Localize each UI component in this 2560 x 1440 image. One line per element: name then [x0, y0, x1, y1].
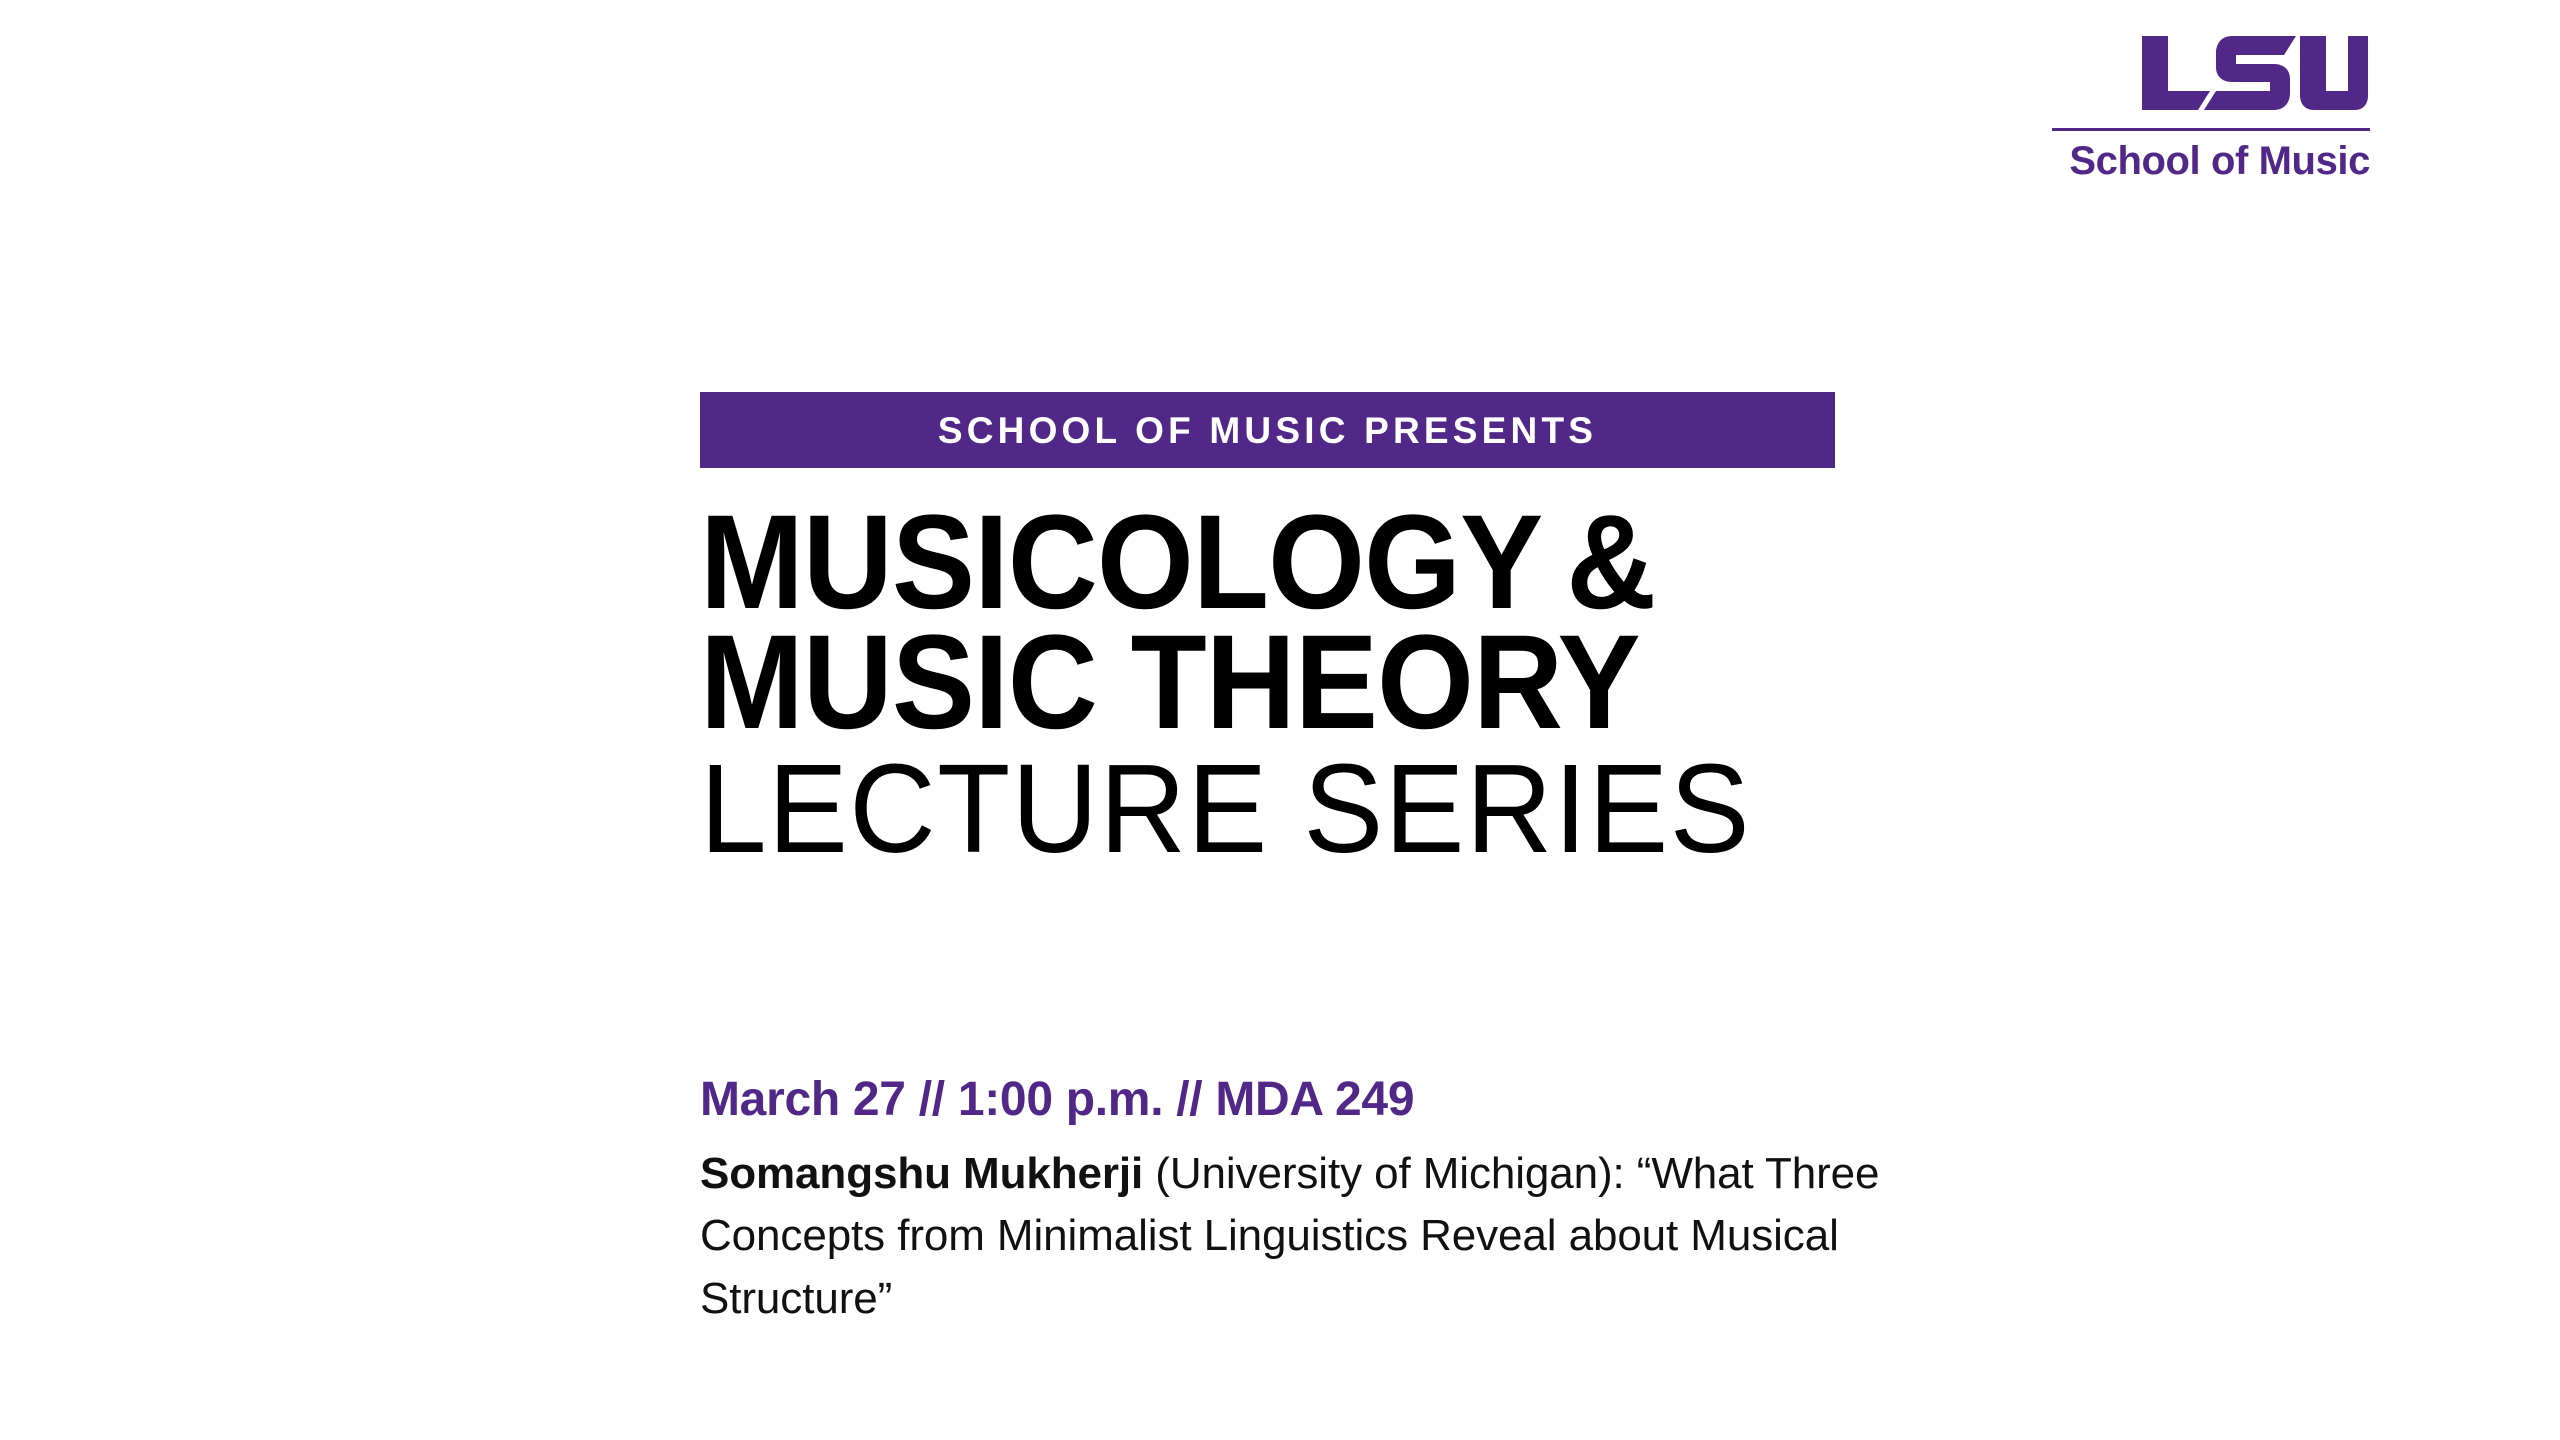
lsu-wordmark-icon	[2140, 34, 2370, 112]
headline-line-2: MUSIC THEORY	[700, 616, 1756, 750]
logo-subtitle: School of Music	[2050, 139, 2370, 183]
title-block: SCHOOL OF MUSIC PRESENTS MUSICOLOGY & MU…	[700, 392, 1835, 872]
event-description: Somangshu Mukherji (University of Michig…	[700, 1143, 2000, 1330]
logo-divider-rule	[2052, 128, 2370, 131]
headline-line-3: LECTURE SERIES	[700, 746, 1778, 872]
event-details: March 27 // 1:00 p.m. // MDA 249 Somangs…	[700, 1073, 2260, 1330]
event-datetime-location: March 27 // 1:00 p.m. // MDA 249	[700, 1073, 2260, 1127]
presents-banner: SCHOOL OF MUSIC PRESENTS	[700, 392, 1835, 468]
presents-banner-label: SCHOOL OF MUSIC PRESENTS	[938, 412, 1597, 449]
event-poster: School of Music SCHOOL OF MUSIC PRESENTS…	[0, 0, 2560, 1440]
lsu-school-of-music-logo: School of Music	[2050, 34, 2370, 183]
speaker-name: Somangshu Mukherji	[700, 1149, 1143, 1198]
